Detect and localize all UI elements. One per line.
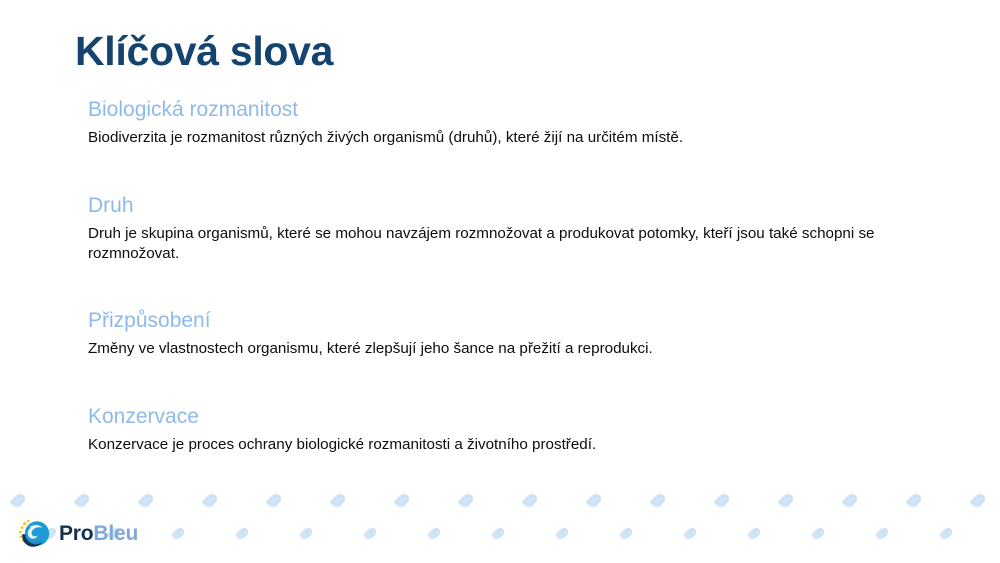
logo-text-pro: Pro: [59, 522, 93, 545]
water-drop-icon: [427, 526, 443, 542]
water-drop-icon: [939, 526, 955, 542]
water-drop-icon: [73, 491, 91, 509]
keyword-definition: Konzervace je proces ochrany biologické …: [88, 435, 938, 456]
water-drop-icon: [811, 526, 827, 542]
water-drop-icon: [491, 526, 507, 542]
water-drop-icon: [555, 526, 571, 542]
water-drop-icon: [619, 526, 635, 542]
water-drop-icon: [585, 491, 603, 509]
water-drop-icon: [777, 491, 795, 509]
water-drop-icon: [9, 491, 27, 509]
keyword-list: Biologická rozmanitost Biodiverzita je r…: [88, 97, 948, 455]
keyword-heading: Druh: [88, 193, 948, 218]
water-drop-icon: [201, 491, 219, 509]
water-drop-icon: [137, 491, 155, 509]
water-drop-icon: [683, 526, 699, 542]
keyword-block: Biologická rozmanitost Biodiverzita je r…: [88, 97, 948, 149]
keyword-block: Konzervace Konzervace je proces ochrany …: [88, 404, 948, 456]
water-drop-icon: [299, 526, 315, 542]
keyword-heading: Biologická rozmanitost: [88, 97, 948, 122]
problеu-logo-text: ProBleu: [59, 523, 138, 544]
keyword-block: Druh Druh je skupina organismů, které se…: [88, 193, 948, 265]
water-drop-icon: [905, 491, 923, 509]
keyword-heading: Přizpůsobení: [88, 308, 948, 333]
water-drop-icon: [171, 526, 187, 542]
water-drop-icon: [875, 526, 891, 542]
keyword-definition: Druh je skupina organismů, které se moho…: [88, 224, 938, 265]
water-drop-icon: [329, 491, 347, 509]
problеu-logo: ProBleu: [16, 515, 138, 551]
water-drop-icon: [363, 526, 379, 542]
page-title: Klíčová slova: [75, 28, 333, 75]
problеu-logo-mark-icon: [16, 515, 52, 551]
water-drop-icon: [393, 491, 411, 509]
keyword-block: Přizpůsobení Změny ve vlastnostech organ…: [88, 308, 948, 360]
water-drop-icon: [649, 491, 667, 509]
keyword-heading: Konzervace: [88, 404, 948, 429]
water-drop-icon: [235, 526, 251, 542]
slide-canvas: Klíčová slova Biologická rozmanitost Bio…: [0, 0, 1000, 563]
footer-decoration-band: ProBleu: [0, 483, 1000, 563]
keyword-definition: Změny ve vlastnostech organismu, které z…: [88, 339, 938, 360]
keyword-definition: Biodiverzita je rozmanitost různých živý…: [88, 128, 938, 149]
logo-text-bleu: Bleu: [93, 522, 138, 545]
water-drop-icon: [265, 491, 283, 509]
water-drop-icon: [841, 491, 859, 509]
water-drop-icon: [747, 526, 763, 542]
water-drop-icon: [969, 491, 987, 509]
water-drop-icon: [521, 491, 539, 509]
water-drop-icon: [457, 491, 475, 509]
water-drop-icon: [713, 491, 731, 509]
